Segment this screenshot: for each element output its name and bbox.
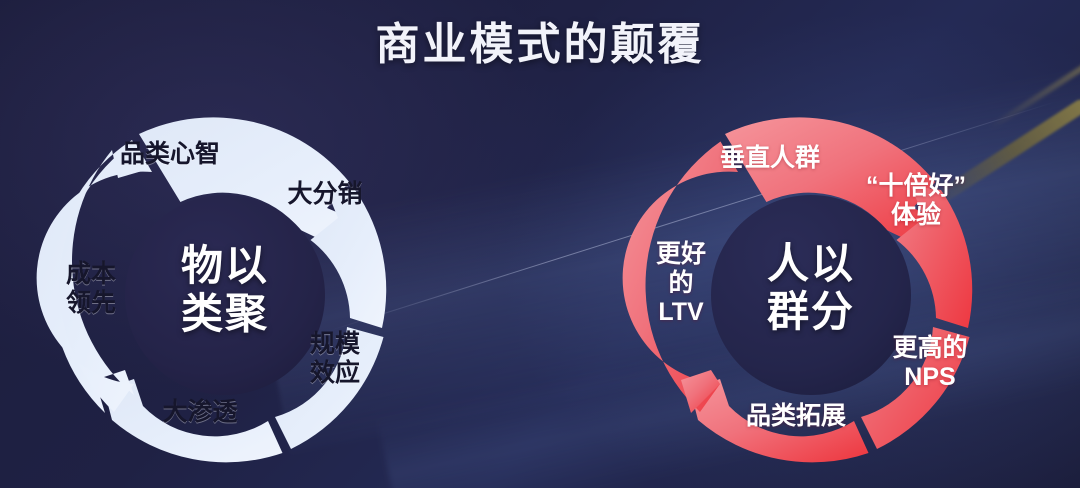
cycle-diagram-left-graphic [42, 112, 408, 478]
page-title: 商业模式的颠覆 [0, 20, 1080, 70]
right-segment-4[interactable] [690, 379, 869, 462]
right-center-disc [711, 195, 911, 395]
cycle-diagram-right: 垂直人群 “十倍好” 体验 更高的 NPS 品类拓展 更好 的 LTV 人以 群… [628, 112, 994, 478]
cycle-diagram-left: 品类心智 大分销 规模 效应 大渗透 成本 领先 物以 类聚 [42, 112, 408, 478]
left-center-disc [125, 195, 325, 395]
cycle-diagram-right-graphic [628, 112, 994, 478]
slide-canvas: 商业模式的颠覆 [0, 0, 1080, 488]
